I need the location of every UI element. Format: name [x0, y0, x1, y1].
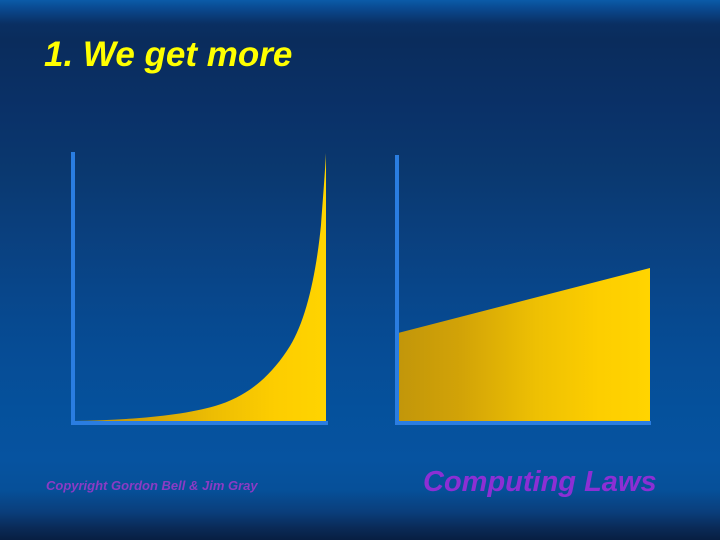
exponential-area	[73, 153, 326, 421]
linear-area	[398, 268, 650, 421]
x-axis-line	[395, 421, 651, 425]
y-axis-line	[71, 152, 75, 423]
linear-chart-svg	[378, 140, 688, 440]
y-axis-line	[395, 155, 399, 423]
page-title: 1. We get more	[44, 33, 664, 77]
exponential-chart-svg	[50, 140, 350, 440]
x-axis-line	[71, 421, 328, 425]
chart-linear-growth	[378, 140, 688, 440]
footer-copyright: Copyright Gordon Bell & Jim Gray	[46, 478, 258, 493]
chart-exponential-growth	[50, 140, 350, 440]
slide-canvas: 1. We get more	[0, 0, 720, 540]
footer-section-label: Computing Laws	[423, 466, 657, 499]
